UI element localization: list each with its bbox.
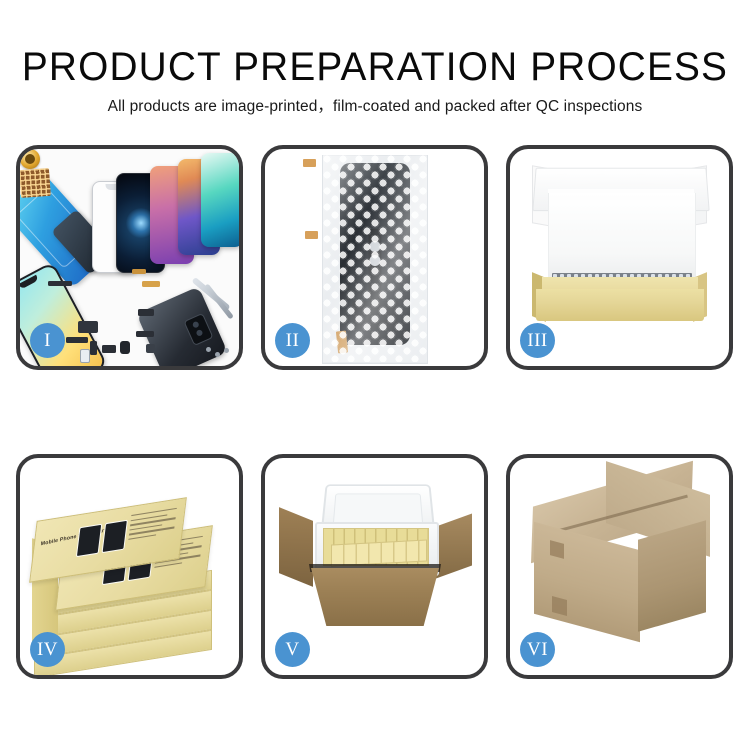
box-stack: Mobile Phone Spare Parts Mobile Phone Sp… (28, 480, 238, 660)
step-badge-1: I (30, 323, 65, 358)
step-panel-3[interactable]: III (506, 145, 733, 370)
process-steps-grid: I II (16, 145, 734, 679)
step-badge-2: II (275, 323, 310, 358)
spare-part (102, 345, 116, 353)
screws-group (206, 347, 232, 359)
camera-module-icon (183, 313, 213, 346)
carton-flap-left (279, 507, 313, 587)
flex-cable-part (132, 269, 146, 274)
step-badge-5: V (275, 632, 310, 667)
box-thumbnail (102, 520, 128, 554)
step-badge-3: III (520, 323, 555, 358)
step-panel-4[interactable]: Mobile Phone Spare Parts Mobile Phone Sp… (16, 454, 243, 679)
step-panel-5[interactable]: V (261, 454, 488, 679)
spare-part (78, 321, 98, 333)
plastic-sheen (323, 155, 427, 362)
speaker-coil-part (20, 149, 40, 169)
box-thumbnail (76, 524, 102, 558)
tape-strip (303, 159, 316, 167)
carton-body (311, 568, 439, 626)
carton-side-face (638, 520, 706, 631)
step-panel-6[interactable]: VI (506, 454, 733, 679)
spare-part (146, 344, 155, 353)
box-spec-lines (128, 508, 177, 544)
box-interior (548, 193, 696, 279)
sim-tray-part (80, 349, 90, 363)
step-panel-1[interactable]: I (16, 145, 243, 370)
header: PRODUCT PREPARATION PROCESS All products… (0, 0, 750, 116)
carton-flap-right (436, 513, 472, 578)
product-preparation-infographic: PRODUCT PREPARATION PROCESS All products… (0, 0, 750, 750)
spare-part (138, 309, 154, 316)
step-badge-4: IV (30, 632, 65, 667)
spare-part (120, 341, 130, 354)
step-badge-6: VI (520, 632, 555, 667)
phone-teal (201, 153, 239, 247)
spare-part (48, 281, 72, 286)
tape-strip (305, 231, 318, 239)
box-front-panel (536, 289, 704, 321)
chip-grid-part (20, 168, 51, 198)
page-subtitle: All products are image-printed，film-coat… (0, 98, 750, 116)
spare-part (66, 337, 88, 343)
flex-cable-part (142, 281, 160, 287)
spare-part (90, 341, 97, 355)
page-title: PRODUCT PREPARATION PROCESS (11, 47, 739, 87)
spare-part (136, 331, 154, 337)
step-panel-2[interactable]: II (261, 145, 488, 370)
